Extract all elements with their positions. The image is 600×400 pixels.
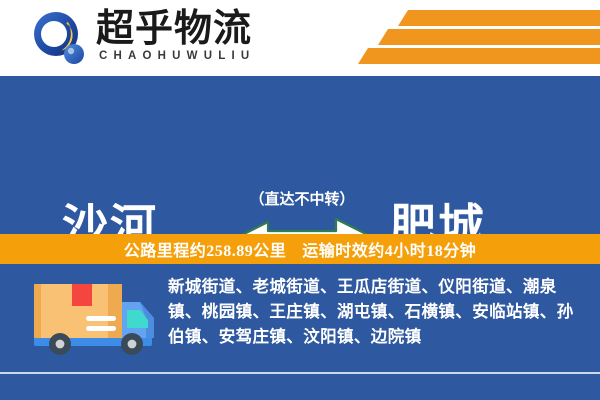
coverage-area-list: 新城街道、老城街道、王瓜店街道、仪阳街道、潮泉镇、桃园镇、王庄镇、湖屯镇、石横镇… (168, 274, 588, 349)
speed-stripes-icon (340, 8, 600, 68)
duration-text: 运输时效约4小时18分钟 (302, 237, 476, 261)
route-info-bar: 公路里程约258.89公里 运输时效约4小时18分钟 (0, 234, 600, 264)
logistics-route-banner: 超乎物流 CHAOHUWULIU 沙河 （直达不中转） 【往返运输】 肥城 公路… (0, 0, 600, 400)
bottom-divider (0, 372, 600, 374)
circle-crescent-logo-icon (30, 10, 88, 68)
coverage-panel: 新城街道、老城街道、王瓜店街道、仪阳街道、潮泉镇、桃园镇、王庄镇、湖屯镇、石横镇… (0, 264, 600, 400)
distance-text: 公路里程约258.89公里 (124, 237, 287, 261)
banner-header: 超乎物流 CHAOHUWULIU (0, 0, 600, 76)
delivery-truck-icon (28, 276, 164, 360)
route-panel: 沙河 （直达不中转） 【往返运输】 肥城 (0, 76, 600, 234)
route-note-direct: （直达不中转） (232, 191, 372, 209)
brand-name-cn: 超乎物流 (96, 8, 252, 50)
brand-name-en: CHAOHUWULIU (99, 50, 255, 62)
